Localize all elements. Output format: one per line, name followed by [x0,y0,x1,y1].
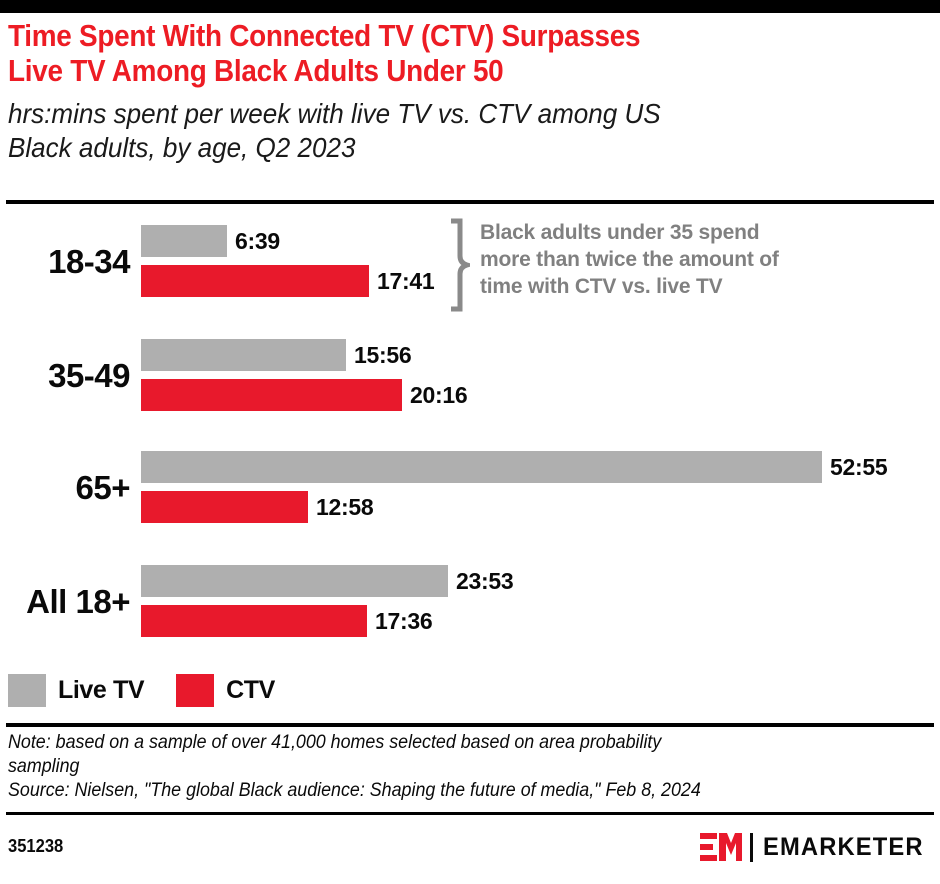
row-category-label: 65+ [0,444,130,532]
footnotes-block: Note: based on a sample of over 41,000 h… [8,731,934,803]
row-category-label: All 18+ [0,558,130,646]
chart-row-65-: 65+52:5512:58 [0,444,940,532]
bar-live-tv[interactable] [141,451,822,483]
bar-value-label: 20:16 [402,379,467,411]
legend-label: Live TV [58,676,144,705]
bar-value-label: 6:39 [227,225,280,257]
chart-id-label: 351238 [8,836,63,857]
bar-ctv[interactable] [141,265,369,297]
chart-row-all-18-: All 18+23:5317:36 [0,558,940,646]
legend-swatch-gray [8,674,46,707]
bar-value-label: 52:55 [822,451,887,483]
callout-annotation: Black adults under 35 spend more than tw… [448,218,918,312]
bar-ctv[interactable] [141,491,308,523]
row-category-label: 35-49 [0,332,130,420]
title-block: Time Spent With Connected TV (CTV) Surpa… [8,18,918,165]
em-monogram-icon [700,833,742,861]
legend-label: CTV [226,676,275,705]
bar-live-tv[interactable] [141,225,227,257]
row-category-label: 18-34 [0,218,130,306]
bar-live-tv[interactable] [141,565,448,597]
logo-wordmark: EMARKETER [763,833,924,862]
bar-value-label: 15:56 [346,339,411,371]
emarketer-logo[interactable]: EMARKETER [700,832,932,862]
bar-value-label: 17:36 [367,605,432,637]
legend-swatch-red [176,674,214,707]
emarketer-chart-card: Time Spent With Connected TV (CTV) Surpa… [0,0,940,884]
footer-divider-rule [6,723,934,727]
source-text: Source: Nielsen, "The global Black audie… [8,779,878,803]
note-text: Note: based on a sample of over 41,000 h… [8,731,878,779]
bar-value-label: 12:58 [308,491,373,523]
legend-item-live-tv[interactable]: Live TV [8,674,144,707]
bar-value-label: 23:53 [448,565,513,597]
chart-legend: Live TVCTV [8,672,307,708]
chart-title: Time Spent With Connected TV (CTV) Surpa… [8,18,827,88]
bar-value-label: 17:41 [369,265,434,297]
top-black-bar [0,0,940,13]
bar-ctv[interactable] [141,379,402,411]
chart-subtitle: hrs:mins spent per week with live TV vs.… [8,97,854,165]
logo-divider [750,833,753,862]
legend-item-ctv[interactable]: CTV [176,674,275,707]
chart-row-35-49: 35-4915:5620:16 [0,332,940,420]
annotation-text: Black adults under 35 spend more than tw… [480,218,779,312]
curly-brace-right-icon [448,218,470,312]
footer-top-rule [6,812,934,815]
bar-ctv[interactable] [141,605,367,637]
bar-live-tv[interactable] [141,339,346,371]
